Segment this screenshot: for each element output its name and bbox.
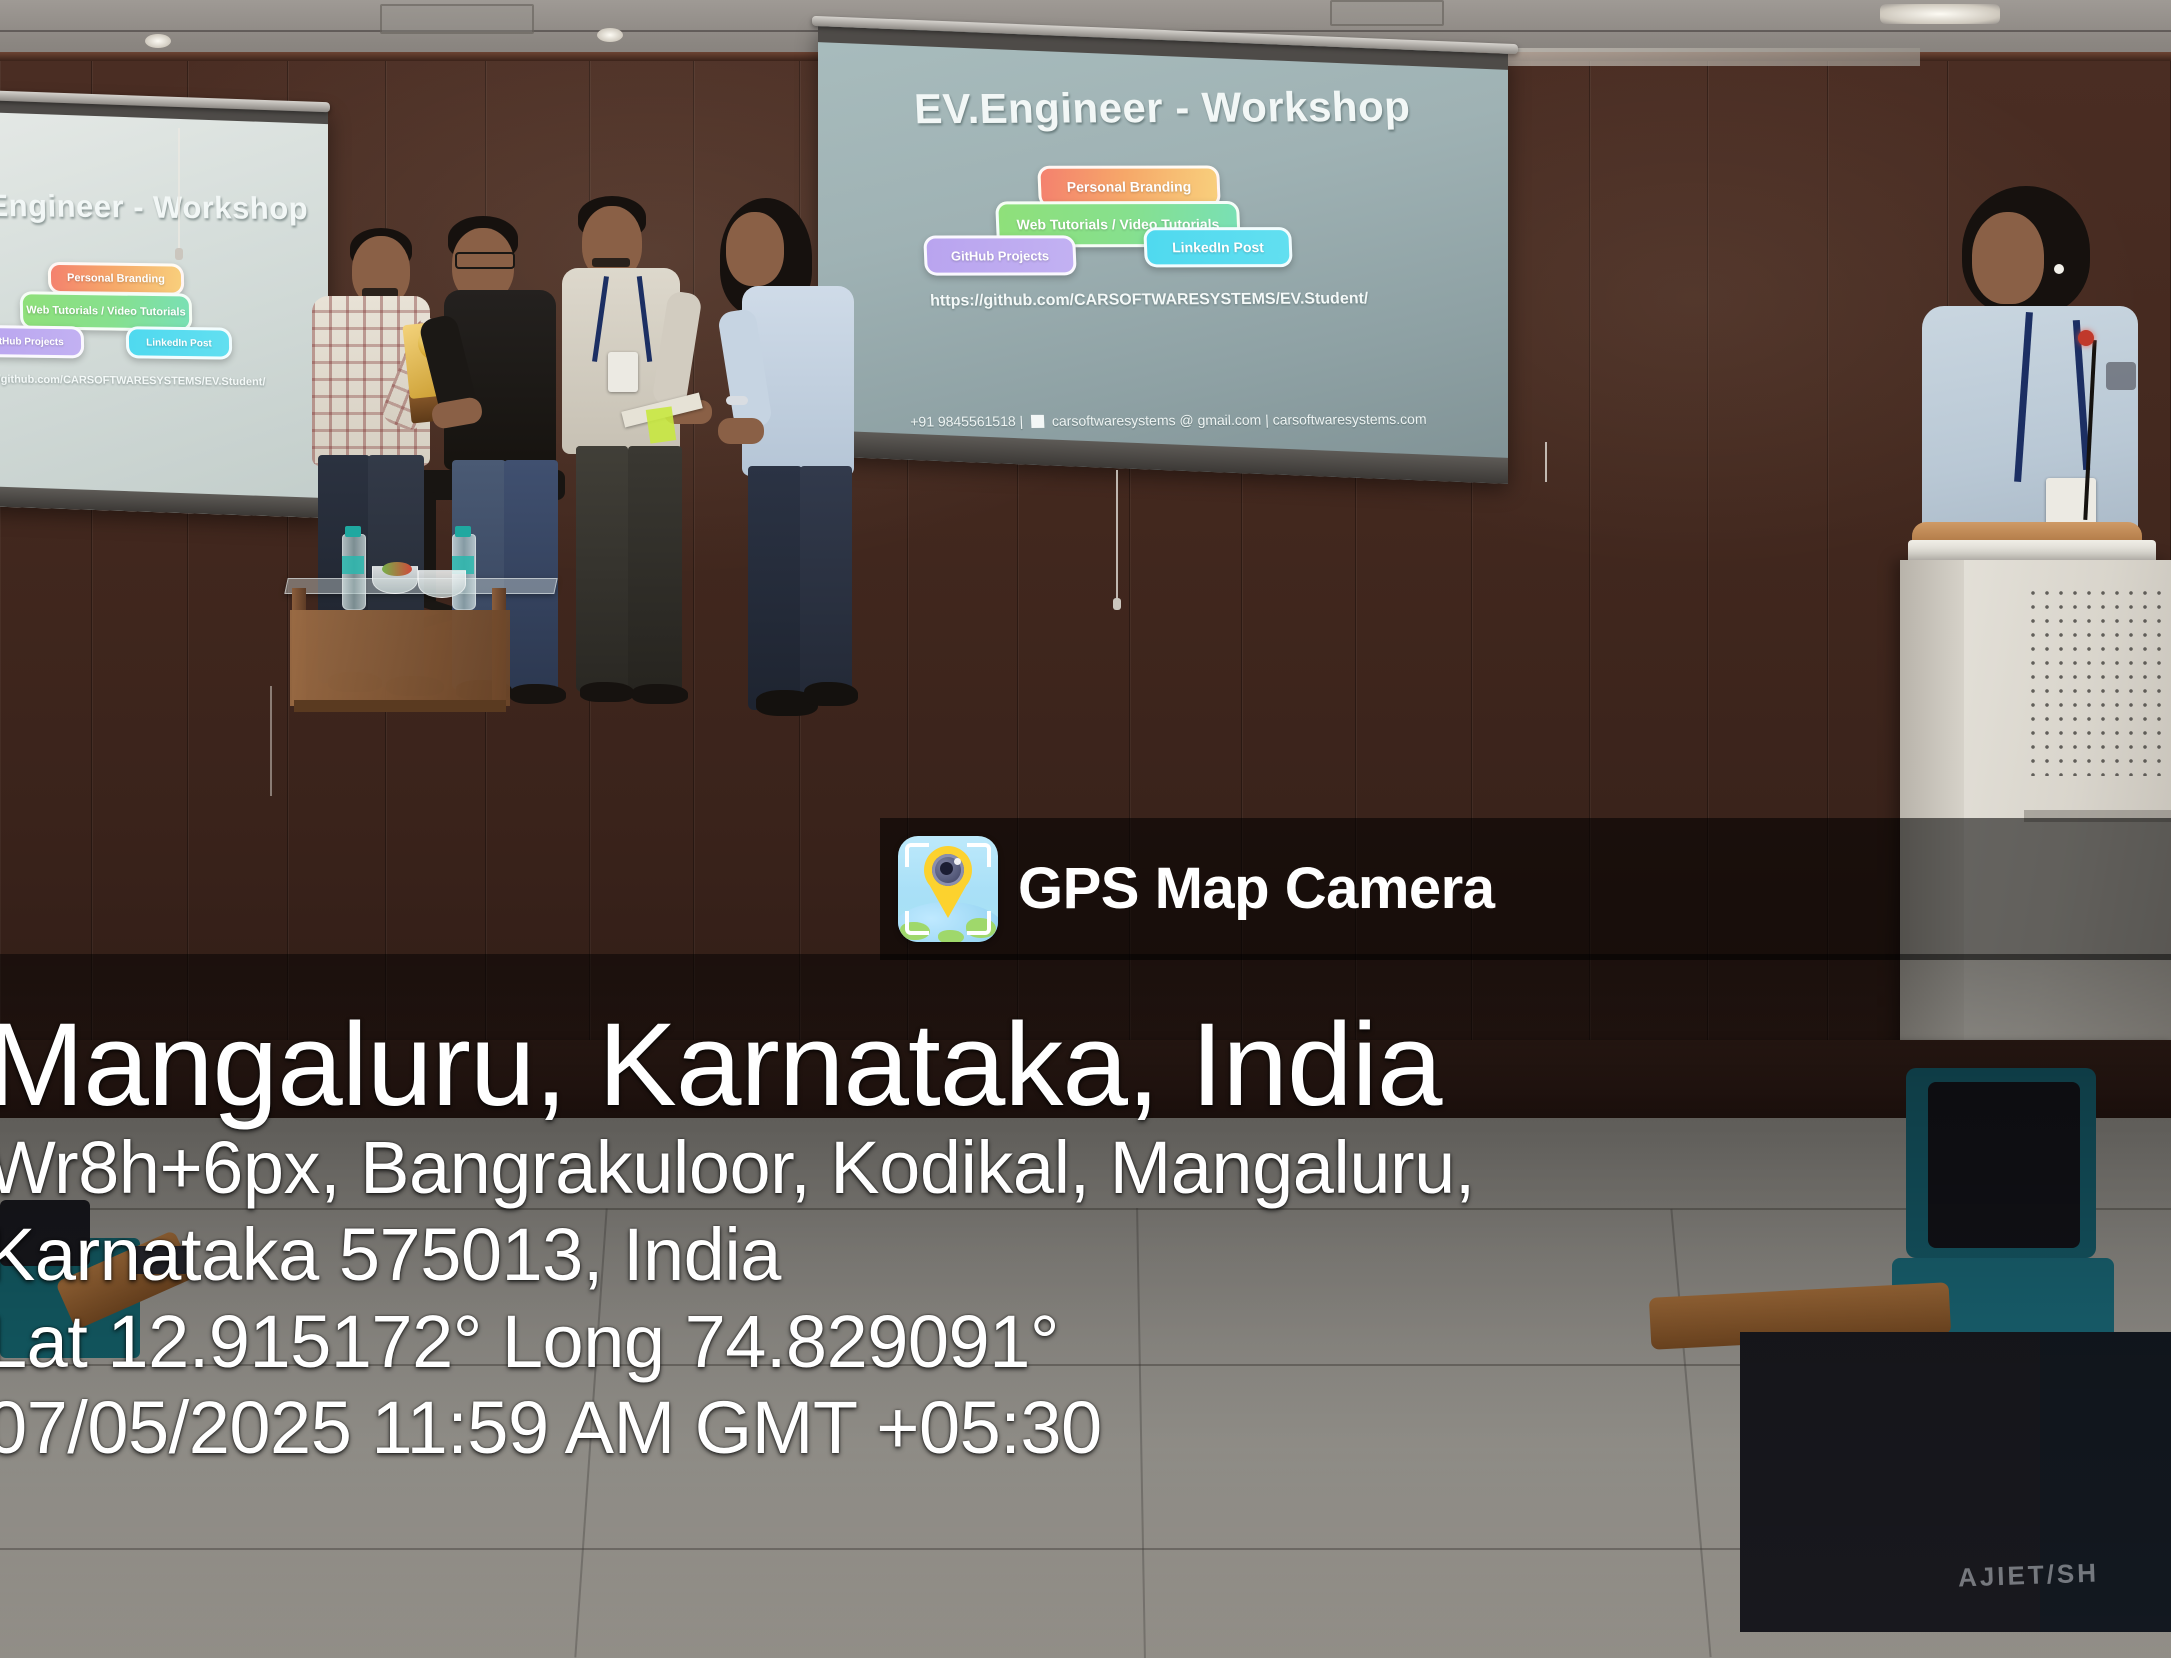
land-shape (938, 930, 964, 942)
moustache (592, 258, 630, 267)
id-badge (608, 352, 638, 392)
leg-right (800, 466, 852, 704)
bowl (418, 570, 466, 598)
projection-screen-left: V.Engineer - Workshop Personal Branding … (0, 98, 328, 518)
viewfinder-bracket-bottom-left (905, 911, 929, 935)
slide-footer-email: carsoftwaresystems @ gmail.com (1052, 412, 1262, 429)
viewfinder-bracket-bottom-right (967, 911, 991, 935)
wrist-watch (726, 396, 748, 405)
camera-lens-pupil (940, 862, 953, 875)
slide-left-title: V.Engineer - Workshop (0, 188, 309, 228)
table-shelf (294, 700, 506, 712)
ceiling-light-panel (1880, 4, 2000, 24)
screen-cord-knob-right (1113, 598, 1121, 610)
chip-personal-branding-left: Personal Branding (48, 262, 185, 296)
earring (2054, 264, 2064, 274)
chair-brand-label: AJIET/SH (1958, 1558, 2100, 1594)
screen-cord-knob-left (175, 248, 183, 260)
watermark-city-line: Mangaluru, Karnataka, India (0, 1005, 2171, 1125)
watermark-logo-band: GPS Map Camera (880, 818, 2171, 960)
highlight-paper (646, 406, 676, 443)
chip-github-projects-left: GitHub Projects (0, 325, 84, 359)
shirt-logo (2106, 362, 2136, 390)
camera-lens-glint (954, 858, 961, 865)
photo-screenshot: V.Engineer - Workshop Personal Branding … (0, 0, 2171, 1658)
leg-left-2 (576, 446, 628, 692)
slide-left: V.Engineer - Workshop Personal Branding … (0, 98, 328, 518)
watermark-location-block: Mangaluru, Karnataka, India Wr8h+6px, Ba… (0, 1005, 2171, 1472)
eyeglasses (455, 252, 515, 269)
viewfinder-bracket-top-left (905, 843, 929, 867)
chip-linkedin-post-left: LinkedIn Post (126, 326, 233, 359)
bottle-cap (345, 526, 361, 537)
screen-cord-right (1116, 470, 1118, 600)
shoe-left (580, 682, 634, 702)
watermark-datetime: 07/05/2025 11:59 AM GMT +05:30 (0, 1385, 2171, 1472)
leg-left (748, 466, 802, 710)
podium-speaker-grille (2026, 586, 2166, 776)
shoe-right (804, 682, 858, 706)
screen-cord-left (178, 128, 180, 248)
mail-icon (1031, 415, 1045, 428)
ceiling-vent (380, 4, 534, 34)
watermark-address-line-2: Karnataka 575013, India (0, 1212, 2171, 1299)
head (726, 212, 784, 286)
bottle-label (342, 556, 364, 574)
flower-decoration (382, 562, 412, 576)
projection-screen-right: EV.Engineer - Workshop Personal Branding… (818, 26, 1508, 484)
slide-right-title: EV.Engineer - Workshop (913, 83, 1411, 134)
head (1972, 212, 2044, 304)
slide-footer-sep-2: | (1265, 412, 1269, 428)
shoe-right (510, 684, 566, 704)
viewfinder-bracket-top-right (967, 843, 991, 867)
microphone-head (2078, 330, 2094, 346)
screen-cord-right-2 (1545, 442, 1547, 482)
chip-github-projects: GitHub Projects (923, 235, 1077, 275)
slide-left-url: https://github.com/CARSOFTWARESYSTEMS/EV… (0, 373, 266, 388)
hand-left (718, 418, 764, 444)
ceiling-vent (1330, 0, 1444, 26)
slide-right-footer: +91 9845561518 | carsoftwaresystems @ gm… (910, 411, 1427, 430)
wall-light-strip (1500, 48, 1920, 66)
ceiling-light (597, 28, 623, 42)
slide-right-url: https://github.com/CARSOFTWARESYSTEMS/EV… (930, 290, 1369, 310)
watermark-address-line-1: Wr8h+6px, Bangrakuloor, Kodikal, Mangalu… (0, 1125, 2171, 1212)
gps-map-camera-icon (898, 836, 998, 942)
leg-right (628, 446, 682, 694)
leg-right (504, 460, 558, 694)
bottle-cap (455, 526, 471, 537)
slide-right: EV.Engineer - Workshop Personal Branding… (818, 26, 1508, 484)
watermark-coordinates: Lat 12.915172° Long 74.829091° (0, 1299, 2171, 1386)
slide-footer-phone: +91 9845561518 (910, 413, 1016, 430)
watermark-app-name: GPS Map Camera (1018, 860, 1495, 918)
slide-footer-sep-1: | (1019, 413, 1023, 429)
ceiling-light (145, 34, 171, 48)
slide-footer-site: carsoftwaresystems.com (1272, 411, 1427, 428)
shoe-right (632, 684, 688, 704)
chip-linkedin-post: LinkedIn Post (1143, 227, 1293, 267)
table-panel (290, 610, 510, 706)
screen-cord-left-lower (270, 686, 272, 796)
